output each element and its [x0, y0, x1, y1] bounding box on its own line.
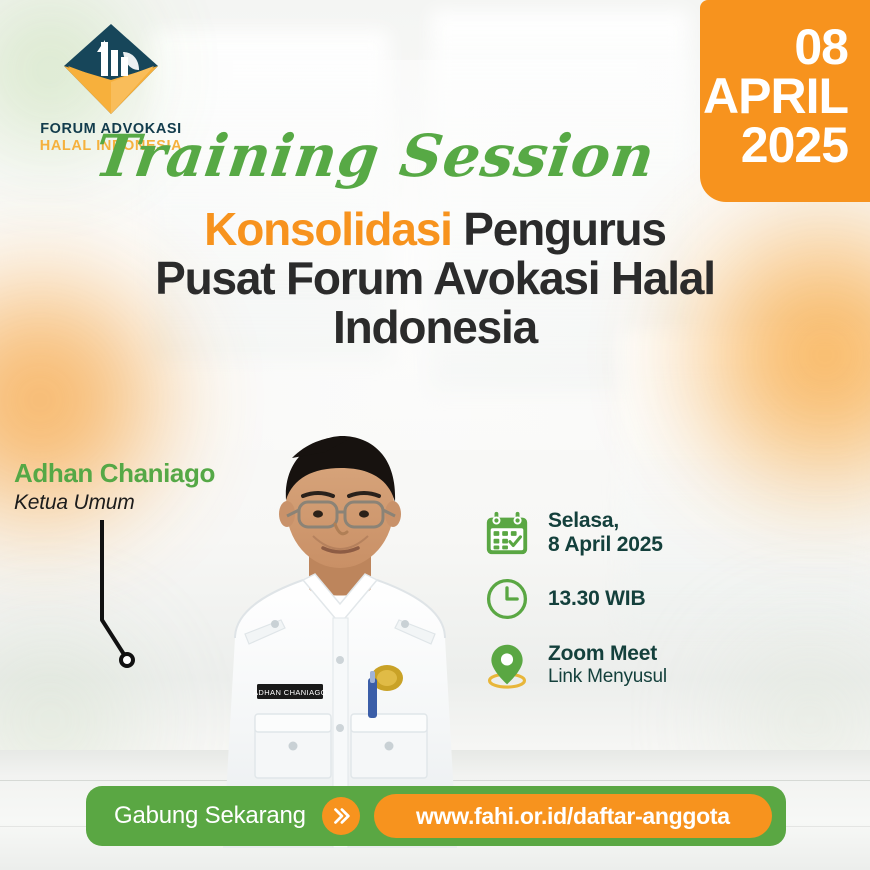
cta-url-pill[interactable]: www.fahi.or.id/daftar-anggota	[374, 794, 772, 838]
title-line1-rest: Pengurus	[452, 203, 666, 255]
event-details: Selasa, 8 April 2025 13.30 WIB	[482, 508, 822, 706]
svg-text:ADHAN CHANIAGO: ADHAN CHANIAGO	[253, 688, 327, 697]
detail-time-text: 13.30 WIB	[548, 587, 645, 611]
date-day: 08	[794, 23, 848, 72]
detail-row-time: 13.30 WIB	[482, 574, 822, 624]
speaker-photo: ADHAN CHANIAGO	[175, 428, 505, 848]
page-title: Konsolidasi Pengurus Pusat Forum Avokasi…	[55, 205, 815, 353]
detail-row-date: Selasa, 8 April 2025	[482, 508, 822, 558]
detail-date-line2: 8 April 2025	[548, 533, 663, 557]
detail-row-location: Zoom Meet Link Menyusul	[482, 640, 822, 690]
script-subtitle: Training Session	[0, 122, 755, 190]
calendar-icon	[482, 508, 532, 558]
diamond-book-logo-icon	[61, 22, 161, 118]
detail-location-sub: Link Menyusul	[548, 666, 667, 688]
double-chevron-right-icon	[322, 797, 360, 835]
clock-icon	[482, 574, 532, 624]
cta-bar[interactable]: Gabung Sekarang www.fahi.or.id/daftar-an…	[86, 786, 786, 846]
date-year: 2025	[741, 121, 848, 170]
title-line-1: Konsolidasi Pengurus	[55, 205, 815, 254]
detail-location-text: Zoom Meet	[548, 642, 667, 666]
title-line-2: Pusat Forum Avokasi Halal	[55, 254, 815, 303]
title-accent-word: Konsolidasi	[204, 203, 452, 255]
cta-label: Gabung Sekarang	[114, 802, 306, 830]
detail-date-line1: Selasa,	[548, 509, 663, 533]
poster-canvas: FORUM ADVOKASI HALAL INDONESIA 08 APRIL …	[0, 0, 870, 870]
title-line-3: Indonesia	[55, 303, 815, 352]
pointer-line-dot-icon	[80, 520, 150, 670]
location-pin-icon	[482, 640, 532, 690]
date-month: APRIL	[703, 72, 848, 121]
